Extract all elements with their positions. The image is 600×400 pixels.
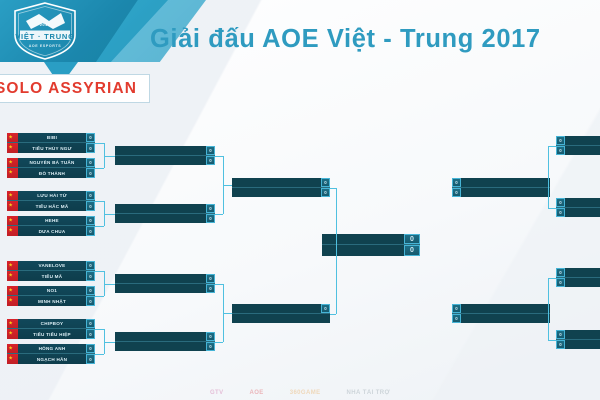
bracket-slot[interactable] xyxy=(232,314,330,324)
bracket-connector xyxy=(95,226,104,227)
bracket-slot[interactable]: LƯU HẢI TỪ0 xyxy=(7,191,95,201)
bracket-connector xyxy=(104,214,115,215)
bracket-connector xyxy=(95,329,104,330)
score-cell[interactable]: 0 xyxy=(556,278,565,288)
score-cell[interactable]: 0 xyxy=(86,201,95,211)
bracket-connector xyxy=(330,314,336,315)
logo-year: 2017 xyxy=(9,22,81,27)
bracket-slot[interactable]: 0 xyxy=(452,178,550,188)
score-cell[interactable]: 0 xyxy=(206,156,215,166)
tournament-logo: 2017 VIỆT · TRUNG AOE ESPORTS xyxy=(9,1,81,61)
bracket-slot[interactable]: 0 xyxy=(452,304,550,314)
player-name: NO1 xyxy=(18,288,86,293)
score-cell[interactable]: 0 xyxy=(206,332,215,341)
bracket-slot[interactable]: 0 xyxy=(115,284,215,294)
player-name: NGUYỄN BÁ TUẤN xyxy=(18,160,86,165)
score-cell[interactable]: 0 xyxy=(556,268,565,277)
bracket-slot[interactable]: 0 xyxy=(556,340,600,350)
bracket-slot[interactable]: 0 xyxy=(115,204,215,214)
vietnam-flag xyxy=(7,158,18,167)
score-cell[interactable]: 0 xyxy=(556,208,565,218)
score-cell[interactable]: 0 xyxy=(452,314,461,324)
bracket-match-r2-right[interactable]: 00 xyxy=(556,198,600,217)
vietnam-flag xyxy=(7,191,18,200)
bracket-slot[interactable]: HỒNG ANH0 xyxy=(7,344,95,354)
score-cell[interactable]: 0 xyxy=(321,304,330,313)
player-name: VANELOVE xyxy=(18,263,86,268)
bracket-slot[interactable]: 0 xyxy=(452,314,550,324)
bracket-slot[interactable]: 0 xyxy=(452,188,550,198)
score-cell[interactable]: 0 xyxy=(556,330,565,339)
bracket-match-r2-right[interactable]: 00 xyxy=(556,268,600,287)
score-cell[interactable]: 0 xyxy=(452,188,461,198)
bracket-slot[interactable]: 0 xyxy=(556,268,600,278)
player-name: TIỂU HẮC MÃ xyxy=(18,204,86,209)
player-name: TIỂU THỦY NGƯ xyxy=(18,146,86,151)
china-flag xyxy=(7,329,18,339)
bracket-match-r1-left[interactable]: HỒNG ANH0NGẠCH HÃN0 xyxy=(7,344,95,364)
vietnam-flag xyxy=(7,133,18,142)
player-name: MINH NHẬT xyxy=(18,299,86,304)
bracket-slot[interactable]: 0 xyxy=(556,278,600,288)
score-cell[interactable]: 0 xyxy=(452,178,461,187)
score-cell[interactable]: 0 xyxy=(86,329,95,339)
vietnam-flag xyxy=(7,286,18,295)
bracket-match-r1-left[interactable]: LƯU HẢI TỪ0TIỂU HẮC MÃ0 xyxy=(7,191,95,211)
score-cell[interactable]: 0 xyxy=(86,296,95,306)
bracket-slot[interactable]: 0 xyxy=(115,332,215,342)
bracket-slot[interactable]: 0 xyxy=(115,214,215,224)
tournament-bracket: BIBI0TIỂU THỦY NGƯ0NGUYỄN BÁ TUẤN0ĐỖ THÀ… xyxy=(0,0,600,400)
player-name: ĐỖ THÀNH xyxy=(18,171,86,176)
bracket-slot[interactable]: NGẠCH HÃN0 xyxy=(7,354,95,364)
player-name: DƯA CHUA xyxy=(18,229,86,234)
bracket-match-r1-left[interactable]: NGUYỄN BÁ TUẤN0ĐỖ THÀNH0 xyxy=(7,158,95,178)
shield-icon xyxy=(9,1,81,61)
bracket-connector xyxy=(104,156,115,157)
china-flag xyxy=(7,271,18,281)
bracket-match-r1-left[interactable]: HEHE0DƯA CHUA0 xyxy=(7,216,95,236)
bracket-match-r3-left[interactable]: 0 xyxy=(232,304,330,323)
bracket-match-r1-left[interactable]: NO10MINH NHẬT0 xyxy=(7,286,95,306)
china-flag xyxy=(7,201,18,211)
china-flag xyxy=(7,168,18,178)
score-cell[interactable]: 0 xyxy=(86,271,95,281)
bracket-slot[interactable]: 0 xyxy=(232,188,330,198)
score-cell[interactable]: 0 xyxy=(206,274,215,283)
bracket-slot[interactable]: TIỂU TIỂU HIỆP0 xyxy=(7,329,95,339)
player-name: TIỂU MÃ xyxy=(18,274,86,279)
bracket-match-r2-right[interactable]: 00 xyxy=(556,330,600,349)
player-name: TIỂU TIỂU HIỆP xyxy=(18,332,86,337)
score-cell[interactable]: 0 xyxy=(321,178,330,187)
bracket-match-r2-left[interactable]: 00 xyxy=(115,146,215,165)
bracket-slot[interactable]: 0 xyxy=(556,146,600,156)
bracket-match-r2-right[interactable]: 00 xyxy=(556,136,600,155)
bracket-connector xyxy=(95,271,104,272)
bracket-match-r2-left[interactable]: 00 xyxy=(115,274,215,293)
score-cell[interactable]: 0 xyxy=(86,191,95,200)
player-name: NGẠCH HÃN xyxy=(18,357,86,362)
bracket-connector xyxy=(104,284,115,285)
score-cell[interactable]: 0 xyxy=(86,168,95,178)
vietnam-flag xyxy=(7,261,18,270)
player-name: HỒNG ANH xyxy=(18,346,86,351)
sponsor-logo: 360GAME xyxy=(290,390,321,396)
score-cell[interactable]: 0 xyxy=(86,286,95,295)
china-flag xyxy=(7,354,18,364)
score-cell[interactable]: 0 xyxy=(404,245,420,256)
score-cell[interactable]: 0 xyxy=(86,261,95,270)
bracket-slot[interactable]: 0 xyxy=(115,156,215,166)
bracket-slot[interactable]: 0 xyxy=(556,198,600,208)
bracket-slot[interactable]: TIỂU MÃ0 xyxy=(7,271,95,281)
bracket-connector xyxy=(95,168,104,169)
score-cell[interactable]: 0 xyxy=(206,204,215,213)
bracket-slot[interactable]: ĐỖ THÀNH0 xyxy=(7,168,95,178)
logo-sub-text: AOE ESPORTS xyxy=(9,44,81,48)
bracket-match-r3-left[interactable]: 00 xyxy=(232,178,330,197)
bracket-match-r1-left[interactable]: CHIPBOY0TIỂU TIỂU HIỆP0 xyxy=(7,319,95,339)
score-cell[interactable]: 0 xyxy=(86,344,95,353)
bracket-slot[interactable]: 0 xyxy=(232,178,330,188)
score-cell[interactable]: 0 xyxy=(86,133,95,142)
player-name: CHIPBOY xyxy=(18,321,86,326)
bracket-connector xyxy=(95,354,104,355)
score-cell[interactable]: 0 xyxy=(404,234,420,244)
bracket-connector xyxy=(215,156,223,157)
score-cell[interactable]: 0 xyxy=(86,143,95,153)
bracket-slot[interactable]: 0 xyxy=(556,208,600,218)
bracket-connector xyxy=(95,143,104,144)
bracket-slot[interactable]: DƯA CHUA0 xyxy=(7,226,95,236)
score-cell[interactable]: 0 xyxy=(86,319,95,328)
score-cell[interactable]: 0 xyxy=(206,146,215,155)
vietnam-flag xyxy=(7,216,18,225)
vietnam-flag xyxy=(7,344,18,353)
score-cell[interactable]: 0 xyxy=(206,342,215,352)
bracket-connector xyxy=(548,146,549,208)
bracket-match-r2-left[interactable]: 00 xyxy=(115,204,215,223)
score-cell[interactable]: 0 xyxy=(452,304,461,313)
bracket-slot[interactable]: VANELOVE0 xyxy=(7,261,95,271)
score-cell[interactable]: 0 xyxy=(556,146,565,156)
score-cell[interactable]: 0 xyxy=(86,354,95,364)
player-name: LƯU HẢI TỪ xyxy=(18,193,86,198)
china-flag xyxy=(7,296,18,306)
sponsor-logo: NHÀ TÀI TRỢ xyxy=(347,390,391,396)
bracket-connector xyxy=(95,201,104,202)
bracket-slot[interactable]: NGUYỄN BÁ TUẤN0 xyxy=(7,158,95,168)
bracket-slot[interactable]: HEHE0 xyxy=(7,216,95,226)
bracket-connector xyxy=(95,296,104,297)
china-flag xyxy=(7,143,18,153)
score-cell[interactable]: 0 xyxy=(86,216,95,225)
score-cell[interactable]: 0 xyxy=(556,136,565,145)
player-name: BIBI xyxy=(18,135,86,140)
bracket-slot[interactable]: MINH NHẬT0 xyxy=(7,296,95,306)
bracket-connector xyxy=(215,214,223,215)
score-cell[interactable]: 0 xyxy=(206,214,215,224)
bracket-connector xyxy=(548,278,549,340)
bracket-match-r2-left[interactable]: 00 xyxy=(115,332,215,351)
bracket-match-r1-left[interactable]: BIBI0TIỂU THỦY NGƯ0 xyxy=(7,133,95,153)
bracket-slot[interactable]: 0 xyxy=(556,136,600,146)
vietnam-flag xyxy=(7,319,18,328)
bracket-slot[interactable]: 0 xyxy=(556,330,600,340)
score-cell[interactable]: 0 xyxy=(206,284,215,294)
bracket-match-r3-right[interactable]: 00 xyxy=(452,178,550,197)
score-cell[interactable]: 0 xyxy=(86,158,95,167)
bracket-slot[interactable]: 0 xyxy=(115,146,215,156)
bracket-match-r1-left[interactable]: VANELOVE0TIỂU MÃ0 xyxy=(7,261,95,281)
bracket-slot[interactable]: 0 xyxy=(115,342,215,352)
bracket-slot[interactable]: 0 xyxy=(115,274,215,284)
sponsor-logo: AOE xyxy=(250,390,264,396)
player-name: HEHE xyxy=(18,218,86,223)
score-cell[interactable]: 0 xyxy=(86,226,95,236)
bracket-slot[interactable]: NO10 xyxy=(7,286,95,296)
score-cell[interactable]: 0 xyxy=(556,340,565,350)
bracket-connector xyxy=(548,340,556,341)
bracket-connector xyxy=(215,342,223,343)
bracket-slot[interactable]: BIBI0 xyxy=(7,133,95,143)
bracket-connector xyxy=(223,313,232,314)
bracket-match-r3-right[interactable]: 00 xyxy=(452,304,550,323)
sponsor-footer: GTV AOE 360GAME NHÀ TÀI TRỢ xyxy=(0,386,600,400)
bracket-connector xyxy=(336,188,337,314)
bracket-connector xyxy=(215,284,223,285)
bracket-connector xyxy=(223,185,232,186)
bracket-slot[interactable]: CHIPBOY0 xyxy=(7,319,95,329)
sponsor-logo: GTV xyxy=(210,390,224,396)
bracket-slot[interactable]: TIỂU THỦY NGƯ0 xyxy=(7,143,95,153)
logo-main-text: VIỆT · TRUNG xyxy=(9,32,81,41)
bracket-slot[interactable]: 0 xyxy=(232,304,330,314)
bracket-connector xyxy=(548,208,556,209)
bracket-connector xyxy=(104,342,115,343)
china-flag xyxy=(7,226,18,236)
bracket-slot[interactable]: TIỂU HẮC MÃ0 xyxy=(7,201,95,211)
score-cell[interactable]: 0 xyxy=(556,198,565,207)
score-cell[interactable]: 0 xyxy=(321,188,330,198)
